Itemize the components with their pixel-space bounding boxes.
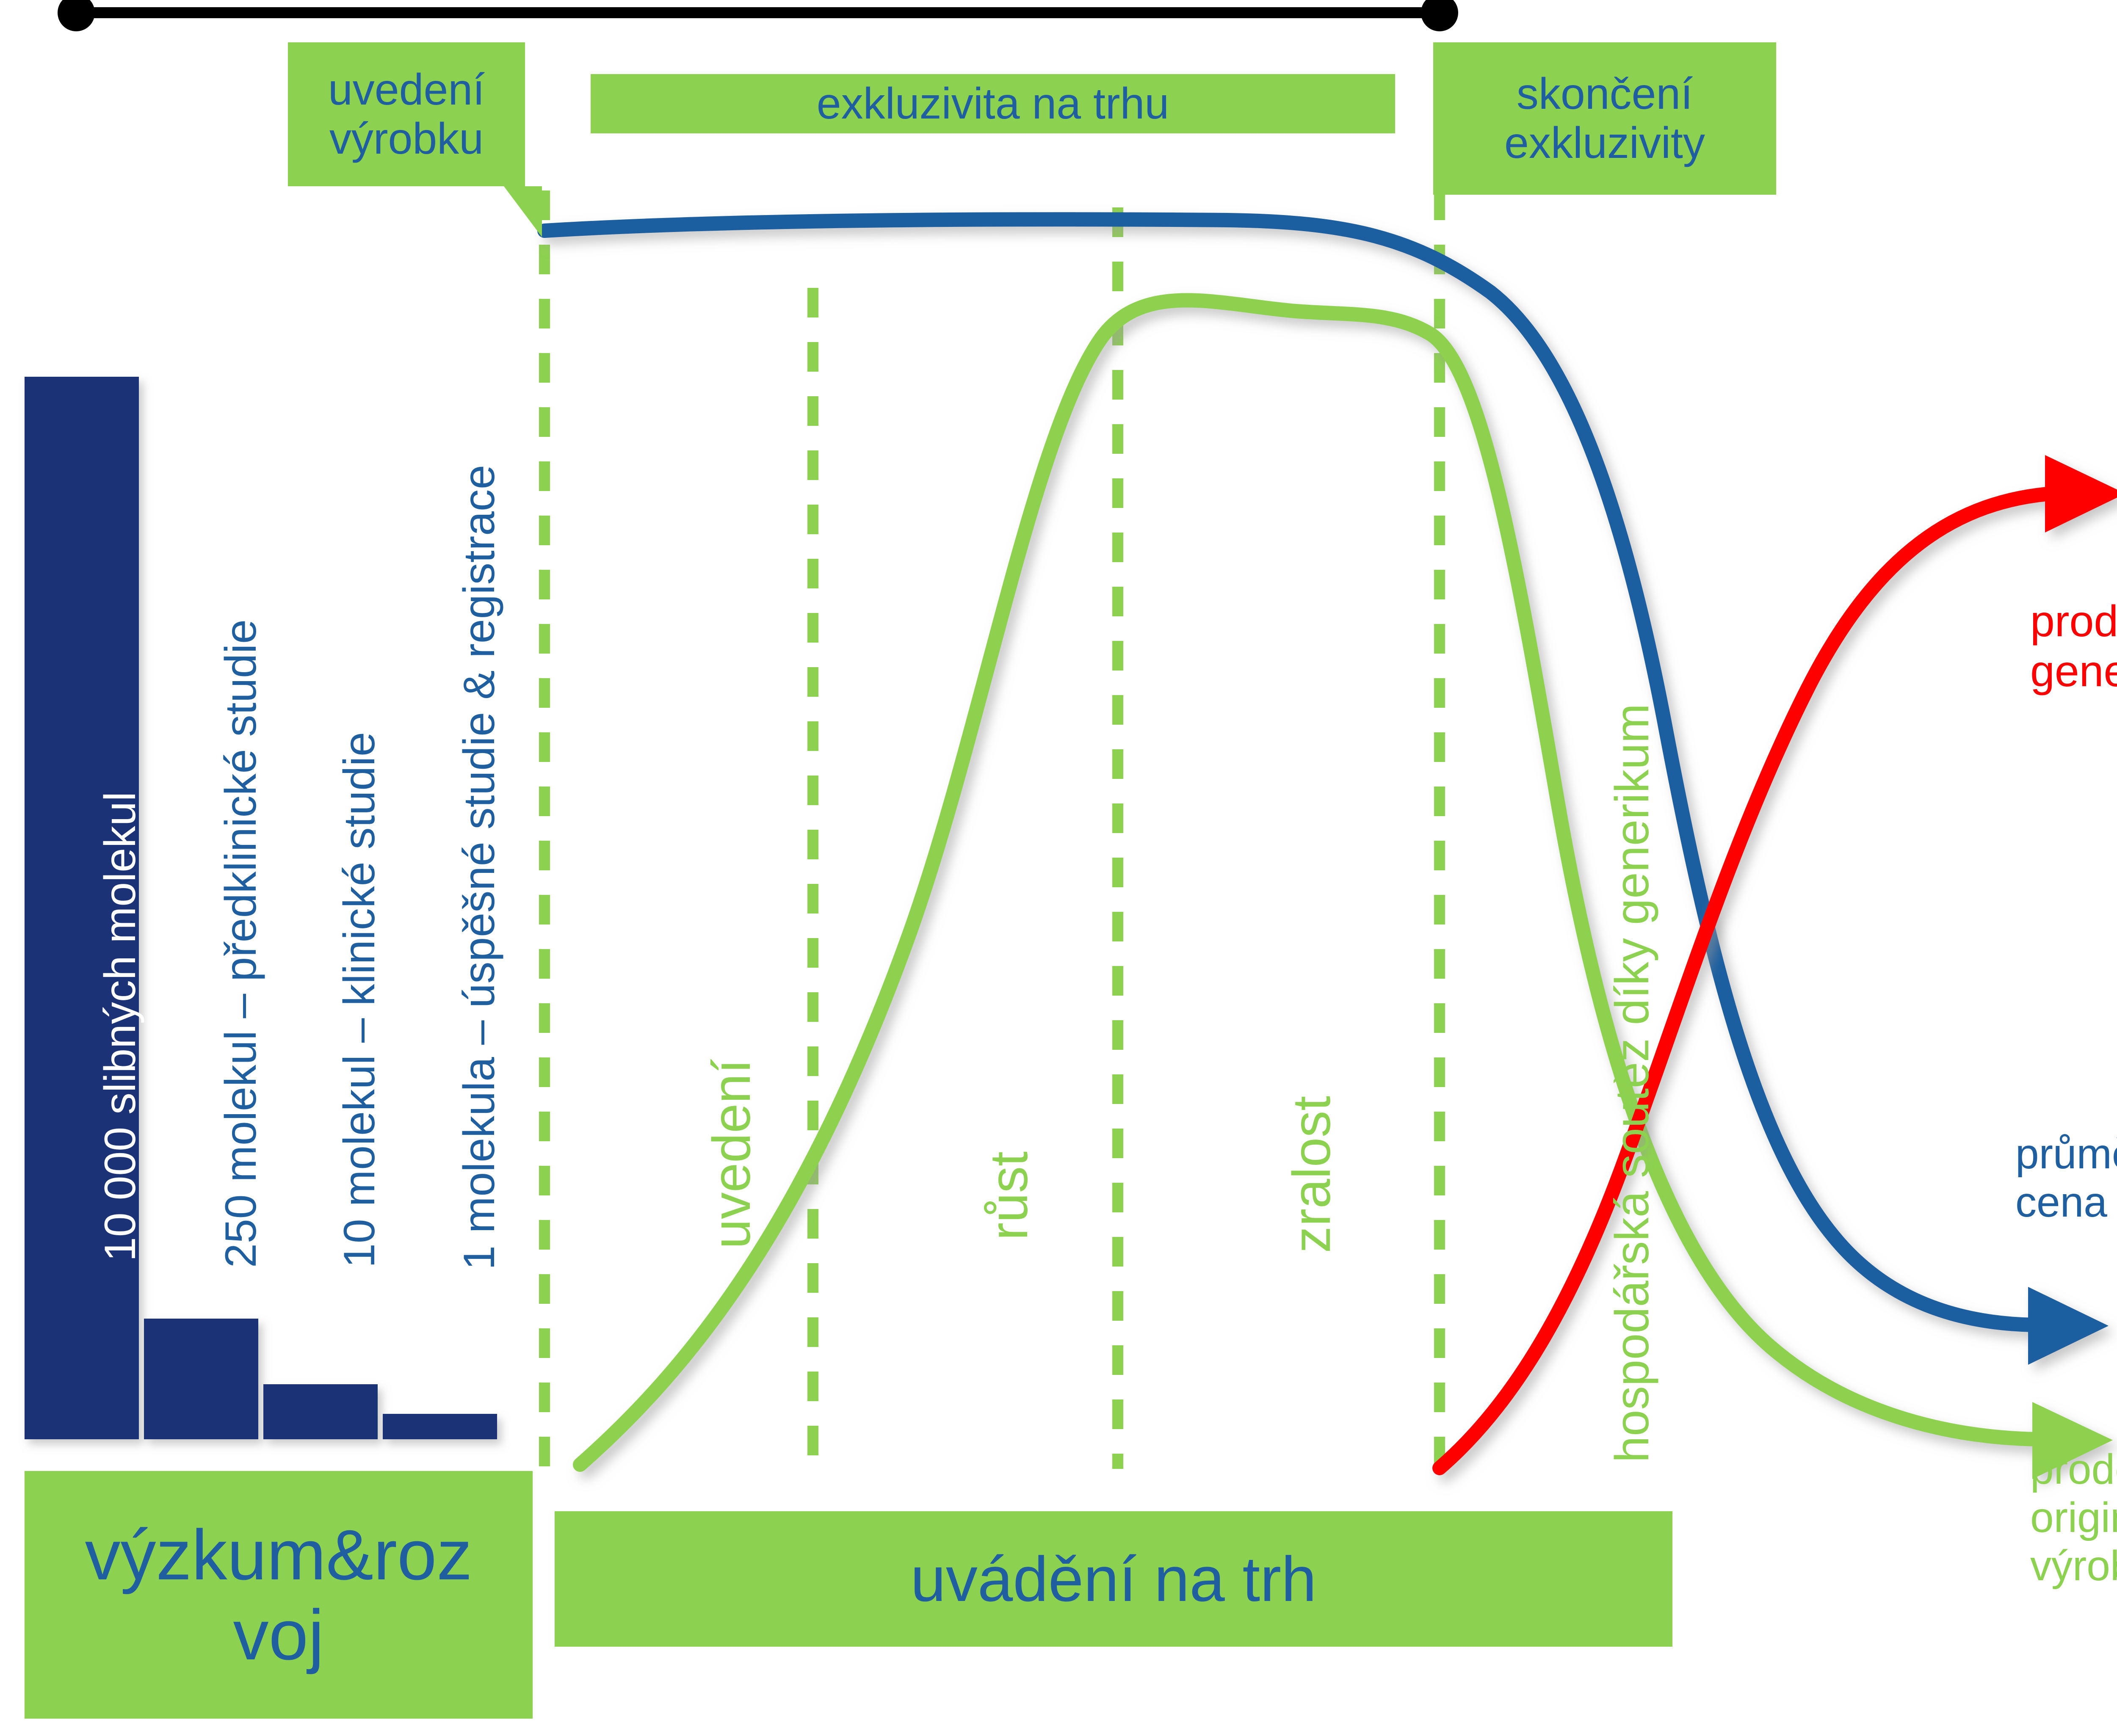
banner-vyzkum-a-rozvoj[interactable]: výzkum&roz voj	[25, 1471, 533, 1719]
rnd-bar-label-3: 10 molekul – klinické studie	[334, 732, 385, 1268]
legend-prumerna-cena-vyrobku: průměrná cena výrobků	[2015, 1082, 2117, 1226]
banner-uvadeni-na-trh-label: uvádění na trh	[910, 1543, 1316, 1615]
banner-vyzkum-line2: voj	[233, 1595, 324, 1675]
rnd-bar-label-1: 10 000 slibných molekul	[95, 792, 146, 1261]
phase-label-hospodarska-soutez-text: hospodářská soutěž díky generikum	[1606, 704, 1658, 1463]
legend-prodej-originalnich-text: prodej originálních výrobků	[2030, 1446, 2117, 1590]
banner-vyzkum-line1: výzkum&roz	[85, 1515, 473, 1595]
phase-label-uvedeni: uvedení	[701, 1059, 762, 1249]
legend-prumerna-cena-text: průměrná cena výrobků	[2015, 1130, 2117, 1226]
rnd-bar-label-2-text: 250 molekul – předklinické studie	[216, 619, 265, 1268]
phase-label-uvedeni-text: uvedení	[702, 1059, 761, 1249]
rnd-bar-label-4-text: 1 molekula – úspěšné studie & registrace	[455, 465, 504, 1270]
rnd-bar-label-2: 250 molekul – předklinické studie	[216, 619, 266, 1268]
phase-label-zralost-text: zralost	[1282, 1096, 1341, 1253]
uvedeni-callout-tail	[504, 186, 542, 237]
phase-label-rust-text: růst	[979, 1151, 1039, 1240]
banner-uvadeni-na-trh[interactable]: uvádění na trh	[555, 1511, 1672, 1647]
phase-label-hospodarska-soutez: hospodářská soutěž díky generikum	[1605, 704, 1659, 1463]
legend-prodej-originalnich-vyrobku: prodej originálních výrobků	[2030, 1397, 2117, 1590]
rnd-bar-label-4: 1 molekula – úspěšné studie & registrace	[455, 423, 503, 1270]
legend-prodej-generik: prodej generik	[2030, 546, 2117, 697]
phase-label-rust: růst	[978, 1151, 1039, 1240]
legend-prodej-generik-text: prodej generik	[2030, 597, 2117, 696]
rnd-bar-label-3-text: 10 molekul – klinické studie	[335, 732, 384, 1268]
rnd-bar-label-1-text: 10 000 slibných molekul	[96, 792, 145, 1261]
product-lifecycle-diagram: uvedení výrobku exkluzivita na trhu skon…	[0, 0, 2117, 1736]
phase-label-zralost: zralost	[1281, 1096, 1342, 1253]
